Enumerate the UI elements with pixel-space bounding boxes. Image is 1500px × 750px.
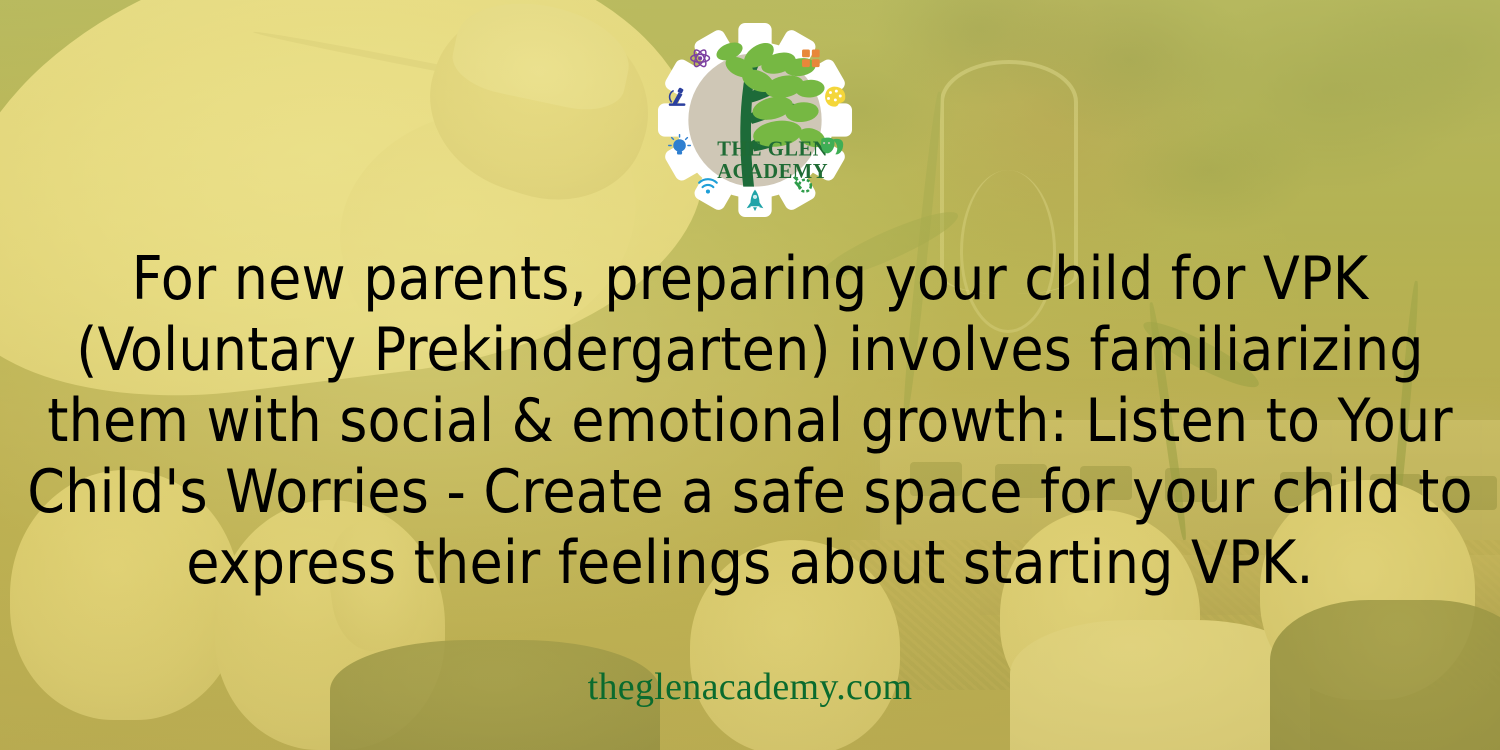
website-url: theglenacademy.com [0, 665, 1500, 709]
logo-brand-line2: ACADEMY [717, 161, 828, 183]
headline-text: For new parents, preparing your child fo… [0, 244, 1500, 599]
logo-brand-line1: THE GLEN [717, 138, 828, 160]
the-glen-academy-logo: THE GLEN ACADEMY [657, 22, 853, 218]
social-media-poster: THE GLEN ACADEMY [0, 0, 1500, 750]
